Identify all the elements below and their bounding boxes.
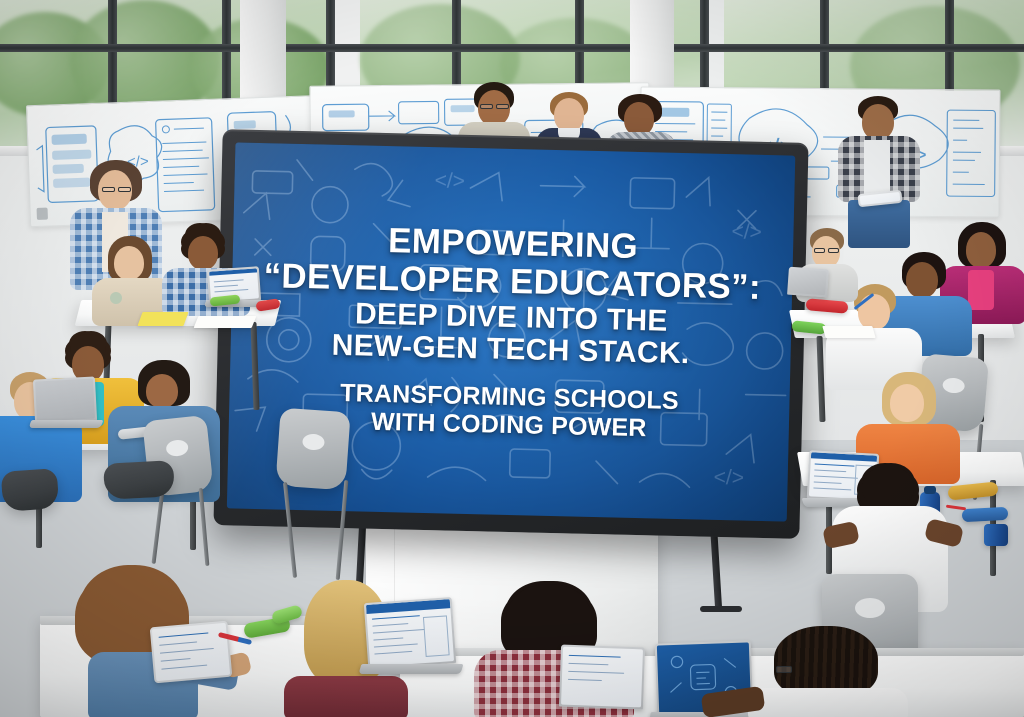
paper-sheet (194, 316, 257, 328)
window-transom (0, 44, 1024, 52)
glasses-icon (118, 187, 131, 192)
glasses-icon (776, 666, 792, 673)
tablet-screen (860, 192, 901, 205)
glasses-icon (480, 104, 493, 109)
screen-text-line (214, 285, 238, 288)
mug-blue[interactable] (984, 524, 1008, 546)
screen-text-line (373, 637, 403, 640)
jacket-badge (110, 292, 122, 304)
person-student-locs-foreground (748, 626, 914, 717)
chair[interactable] (103, 460, 175, 500)
display-stand-foot (700, 606, 742, 612)
pencil-case-blue (962, 507, 1009, 522)
sticky-note-yellow (137, 312, 188, 326)
person-student-checked-shirt-standing (832, 96, 926, 248)
screen-text-line (160, 648, 214, 654)
head (114, 246, 144, 280)
torso (748, 688, 908, 717)
screen-text-line (373, 629, 425, 634)
window-titlebar (209, 268, 257, 276)
screen-text-line (372, 623, 408, 627)
head (554, 98, 584, 132)
slide-headline-line-4: NEW-GEN TECH STACK. (331, 330, 690, 371)
screen-panel (423, 615, 450, 657)
whiteboard-clip (37, 208, 48, 220)
glasses-icon (828, 248, 839, 253)
screen-text-line (214, 289, 248, 293)
glasses-icon (102, 187, 115, 192)
screen-text-line (161, 658, 191, 662)
head (890, 384, 924, 422)
laptop-lid (787, 267, 829, 298)
glasses-icon (814, 248, 825, 253)
chair[interactable] (1, 468, 60, 512)
screen-text-line (568, 671, 624, 674)
laptop-base[interactable] (359, 664, 464, 674)
screen-text-line (161, 665, 207, 670)
laptop-lid (559, 645, 645, 710)
screen-text-line (159, 641, 197, 646)
chair-handle-slot (302, 433, 325, 450)
chair-handle-slot (165, 439, 189, 457)
window-titlebar (811, 452, 877, 462)
tablet[interactable] (150, 621, 233, 684)
head (862, 104, 894, 140)
hair (862, 466, 914, 510)
screen-text-line (569, 655, 621, 658)
slide-headline-line-2: “DEVELOPER EDUCATORS”: (263, 257, 761, 306)
torso (284, 676, 408, 717)
screen-text-line (372, 615, 420, 620)
screen-text-line (159, 632, 209, 638)
window-titlebar (366, 599, 450, 614)
head (188, 236, 218, 270)
laptop-screen (366, 599, 454, 667)
inner-shirt (864, 140, 890, 196)
laptop-base[interactable] (29, 420, 104, 428)
screen-text-line (568, 663, 608, 666)
tablet-screen (152, 623, 230, 681)
glasses-icon (496, 104, 509, 109)
head (146, 374, 178, 408)
screen-text-line (214, 279, 244, 282)
head (624, 102, 654, 136)
slide-subline-2: WITH CODING POWER (371, 407, 647, 441)
screen-text-line (374, 643, 418, 647)
laptop-screen (35, 379, 95, 422)
classroom-presentation-scene: { "scene": { "setting": "modern-classroo… (0, 0, 1024, 717)
laptop-screen (561, 647, 643, 708)
paper-sheet (822, 326, 875, 338)
laptop-screen (789, 269, 827, 295)
screen-text-line (568, 679, 602, 681)
chair-handle-slot (855, 598, 885, 618)
chair[interactable] (275, 408, 350, 491)
laptop-lid (364, 597, 456, 669)
laptop-lid (33, 376, 97, 423)
screen-text-line (374, 651, 412, 655)
